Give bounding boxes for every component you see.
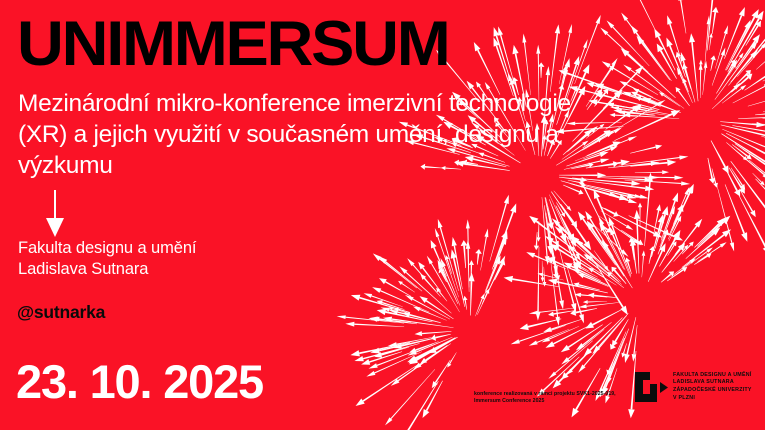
down-arrow-icon xyxy=(44,190,66,238)
faculty-line-2: Ladislava Sutnara xyxy=(18,260,148,278)
logo-line-1: FAKULTA DESIGNU A UMĚNÍ xyxy=(673,372,752,378)
faculty-name: Fakulta designu a umění Ladislava Sutnar… xyxy=(18,238,196,280)
event-date: 23. 10. 2025 xyxy=(16,358,263,405)
university-logo: FAKULTA DESIGNU A UMĚNÍ LADISLAVA SUTNAR… xyxy=(632,369,752,405)
fine-print: konference realizovaná v rámci projektu … xyxy=(474,391,644,405)
subtitle: Mezinárodní mikro-konference imerzivní t… xyxy=(18,88,618,181)
logo-line-4: V PLZNI xyxy=(673,395,695,401)
university-logo-text: FAKULTA DESIGNU A UMĚNÍ LADISLAVA SUTNAR… xyxy=(673,372,752,402)
faculty-line-1: Fakulta designu a umění xyxy=(18,239,196,257)
fine-print-line-1: konference realizovaná v rámci projektu … xyxy=(474,391,616,397)
sutnarka-logo-mark-icon xyxy=(632,369,668,405)
poster-canvas: UNIMMERSUM Mezinárodní mikro-konference … xyxy=(0,0,765,430)
logo-line-3: ZÁPADOČESKÉ UNIVERZITY xyxy=(673,387,752,393)
page-title: UNIMMERSUM xyxy=(17,13,449,76)
social-handle: @sutnarka xyxy=(17,301,105,323)
fine-print-line-2: Immersum Conference 2025 xyxy=(474,398,544,404)
logo-line-2: LADISLAVA SUTNARA xyxy=(673,379,734,385)
